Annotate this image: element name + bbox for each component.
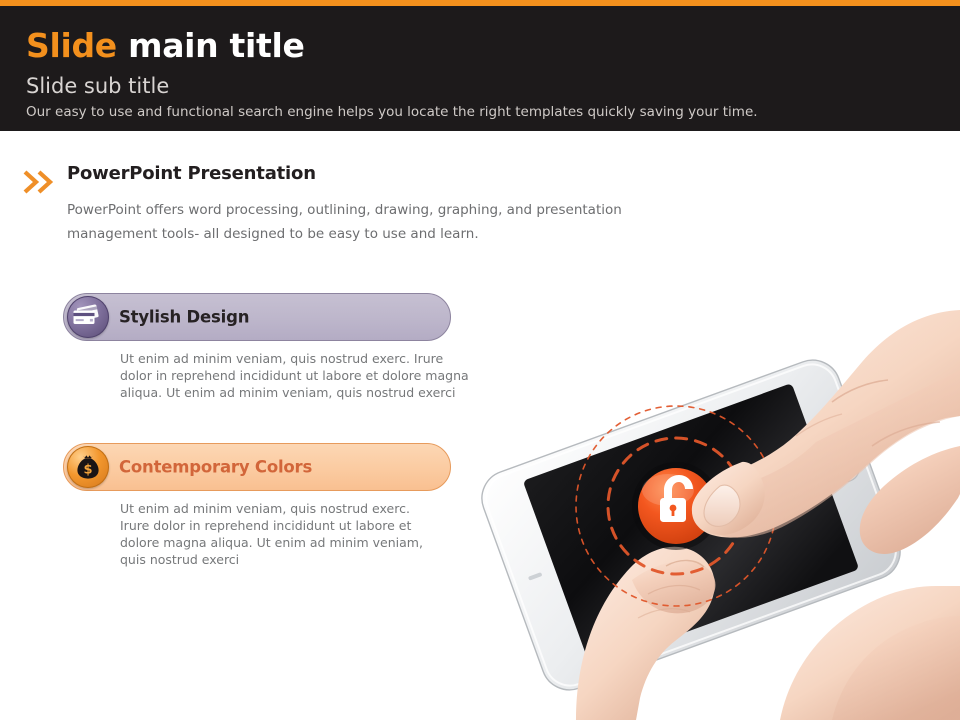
svg-text:$: $ xyxy=(83,463,92,478)
slide-canvas: Slide main title Slide sub title Our eas… xyxy=(0,0,960,720)
page-title: Slide main title xyxy=(26,26,305,65)
intro-title: PowerPoint Presentation xyxy=(67,163,316,184)
feature-body: Ut enim ad minim veniam, quis nostrud ex… xyxy=(120,500,432,568)
page-title-rest: main title xyxy=(128,26,305,65)
feature-label: Contemporary Colors xyxy=(119,458,312,477)
page-description: Our easy to use and functional search en… xyxy=(26,104,758,120)
money-bag-icon: $ xyxy=(67,446,109,488)
page-subtitle: Slide sub title xyxy=(26,74,169,98)
page-title-highlight: Slide xyxy=(26,26,117,65)
slide-header: Slide main title Slide sub title Our eas… xyxy=(0,6,960,131)
feature-pill-contemporary-colors[interactable]: $ Contemporary Colors xyxy=(63,443,451,491)
intro-body: PowerPoint offers word processing, outli… xyxy=(67,198,647,246)
hands-holding-smartphone-photo xyxy=(480,250,960,720)
double-chevron-right-icon xyxy=(22,169,64,195)
feature-body: Ut enim ad minim veniam, quis nostrud ex… xyxy=(120,350,478,401)
feature-pill-stylish-design[interactable]: Stylish Design xyxy=(63,293,451,341)
credit-cards-icon xyxy=(67,296,109,338)
feature-label: Stylish Design xyxy=(119,308,249,327)
